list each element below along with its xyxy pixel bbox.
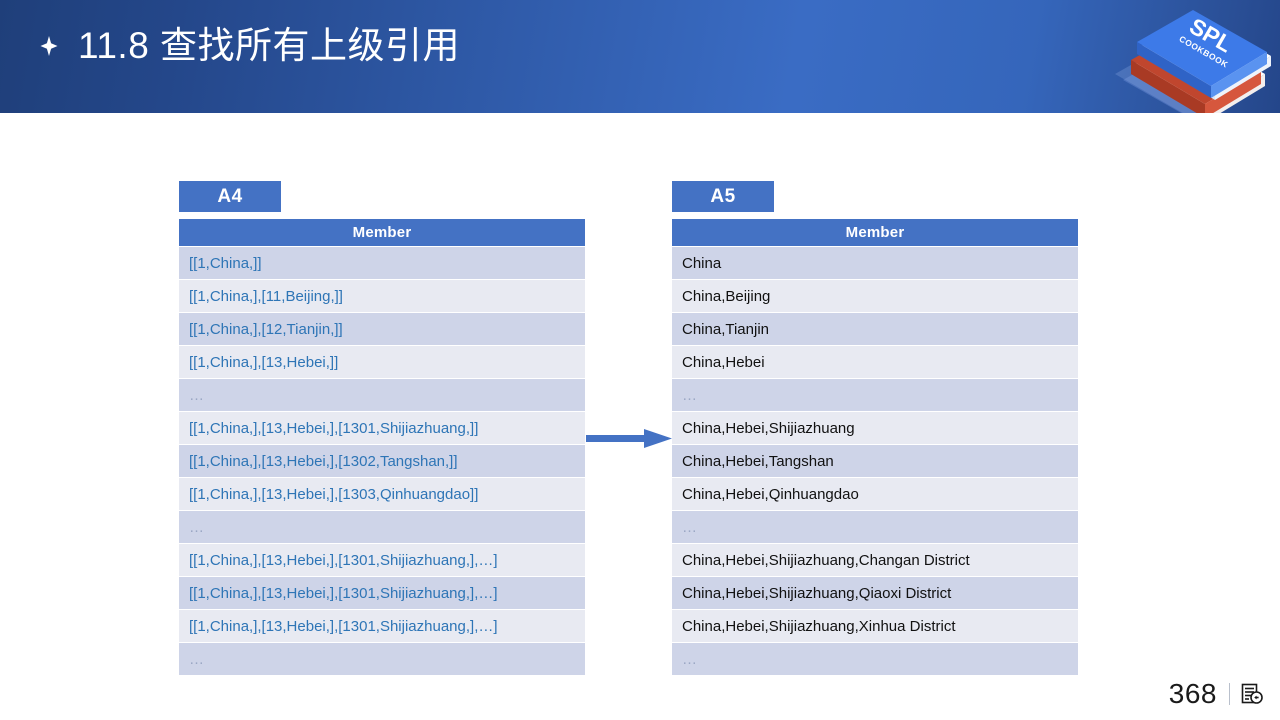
table-cell-member: [[1,China,],[13,Hebei,],[1301,Shijiazhua…	[179, 610, 585, 643]
table-row: …	[672, 379, 1078, 412]
table-cell-member: [[1,China,],[13,Hebei,],[1301,Shijiazhua…	[179, 577, 585, 610]
cell-tag-a5[interactable]: A5	[672, 181, 774, 212]
table-row: China,Hebei	[672, 346, 1078, 379]
table-row: [[1,China,],[13,Hebei,],[1303,Qinhuangda…	[179, 478, 585, 511]
table-row: [[1,China,],[13,Hebei,],[1302,Tangshan,]…	[179, 445, 585, 478]
table-row: China,Hebei,Shijiazhuang	[672, 412, 1078, 445]
table-cell-ellipsis: …	[672, 643, 1078, 676]
table-cell-ellipsis: …	[672, 379, 1078, 412]
table-row: China	[672, 247, 1078, 280]
table-cell-member: [[1,China,],[13,Hebei,],[1301,Shijiazhua…	[179, 412, 585, 445]
table-block-a5: A5 Member ChinaChina,BeijingChina,Tianji…	[672, 181, 1078, 675]
column-header-member: Member	[179, 219, 585, 247]
table-cell-member: China,Hebei,Qinhuangdao	[672, 478, 1078, 511]
column-header-member: Member	[672, 219, 1078, 247]
document-return-icon[interactable]	[1240, 682, 1264, 706]
cell-tag-a4[interactable]: A4	[179, 181, 281, 212]
page-number: 368	[1169, 676, 1217, 712]
table-row: [[1,China,],[12,Tianjin,]]	[179, 313, 585, 346]
table-a5-body: ChinaChina,BeijingChina,TianjinChina,Heb…	[672, 247, 1078, 676]
table-a4-body: [[1,China,]][[1,China,],[11,Beijing,]][[…	[179, 247, 585, 676]
table-cell-ellipsis: …	[179, 511, 585, 544]
spl-cookbook-book-logo: SPL COOKBOOK	[1105, 2, 1280, 113]
sparkle-diamond-icon	[38, 33, 60, 59]
table-cell-member: China,Hebei,Tangshan	[672, 445, 1078, 478]
slide-footer: 368	[1169, 676, 1264, 712]
slide-header-banner: 11.8 查找所有上级引用 SPL COOKBOOK	[0, 0, 1280, 113]
table-cell-member: [[1,China,]]	[179, 247, 585, 280]
table-cell-member: China,Hebei,Shijiazhuang	[672, 412, 1078, 445]
table-row: China,Hebei,Tangshan	[672, 445, 1078, 478]
table-row: [[1,China,],[13,Hebei,]]	[179, 346, 585, 379]
table-cell-ellipsis: …	[672, 511, 1078, 544]
page-title: 11.8 查找所有上级引用	[78, 22, 460, 70]
table-cell-member: China,Hebei,Shijiazhuang,Changan Distric…	[672, 544, 1078, 577]
table-header-row: Member	[672, 219, 1078, 247]
table-cell-member: [[1,China,],[12,Tianjin,]]	[179, 313, 585, 346]
table-cell-member: China,Hebei	[672, 346, 1078, 379]
table-row: China,Hebei,Qinhuangdao	[672, 478, 1078, 511]
table-row: …	[179, 379, 585, 412]
table-row: …	[179, 511, 585, 544]
table-row: [[1,China,],[13,Hebei,],[1301,Shijiazhua…	[179, 610, 585, 643]
table-row: China,Beijing	[672, 280, 1078, 313]
table-cell-member: [[1,China,],[13,Hebei,],[1302,Tangshan,]…	[179, 445, 585, 478]
table-cell-member: China,Hebei,Shijiazhuang,Xinhua District	[672, 610, 1078, 643]
table-cell-ellipsis: …	[179, 379, 585, 412]
slide-title-row: 11.8 查找所有上级引用	[38, 22, 460, 70]
table-row: …	[179, 643, 585, 676]
table-cell-member: China,Tianjin	[672, 313, 1078, 346]
table-cell-member: China	[672, 247, 1078, 280]
table-a4: Member [[1,China,]][[1,China,],[11,Beiji…	[179, 219, 585, 675]
table-row: China,Hebei,Shijiazhuang,Qiaoxi District	[672, 577, 1078, 610]
table-row: [[1,China,],[13,Hebei,],[1301,Shijiazhua…	[179, 412, 585, 445]
table-row: [[1,China,],[13,Hebei,],[1301,Shijiazhua…	[179, 577, 585, 610]
table-cell-member: China,Hebei,Shijiazhuang,Qiaoxi District	[672, 577, 1078, 610]
table-row: …	[672, 511, 1078, 544]
table-header-row: Member	[179, 219, 585, 247]
table-row: China,Tianjin	[672, 313, 1078, 346]
table-row: …	[672, 643, 1078, 676]
table-row: [[1,China,]]	[179, 247, 585, 280]
table-cell-member: [[1,China,],[13,Hebei,],[1301,Shijiazhua…	[179, 544, 585, 577]
table-cell-member: [[1,China,],[11,Beijing,]]	[179, 280, 585, 313]
table-row: China,Hebei,Shijiazhuang,Xinhua District	[672, 610, 1078, 643]
table-a5: Member ChinaChina,BeijingChina,TianjinCh…	[672, 219, 1078, 675]
table-row: [[1,China,],[13,Hebei,],[1301,Shijiazhua…	[179, 544, 585, 577]
table-row: China,Hebei,Shijiazhuang,Changan Distric…	[672, 544, 1078, 577]
table-cell-ellipsis: …	[179, 643, 585, 676]
footer-divider	[1229, 683, 1230, 705]
table-cell-member: China,Beijing	[672, 280, 1078, 313]
table-cell-member: [[1,China,],[13,Hebei,]]	[179, 346, 585, 379]
table-row: [[1,China,],[11,Beijing,]]	[179, 280, 585, 313]
table-cell-member: [[1,China,],[13,Hebei,],[1303,Qinhuangda…	[179, 478, 585, 511]
transform-arrow-right	[586, 428, 672, 450]
table-block-a4: A4 Member [[1,China,]][[1,China,],[11,Be…	[179, 181, 585, 675]
